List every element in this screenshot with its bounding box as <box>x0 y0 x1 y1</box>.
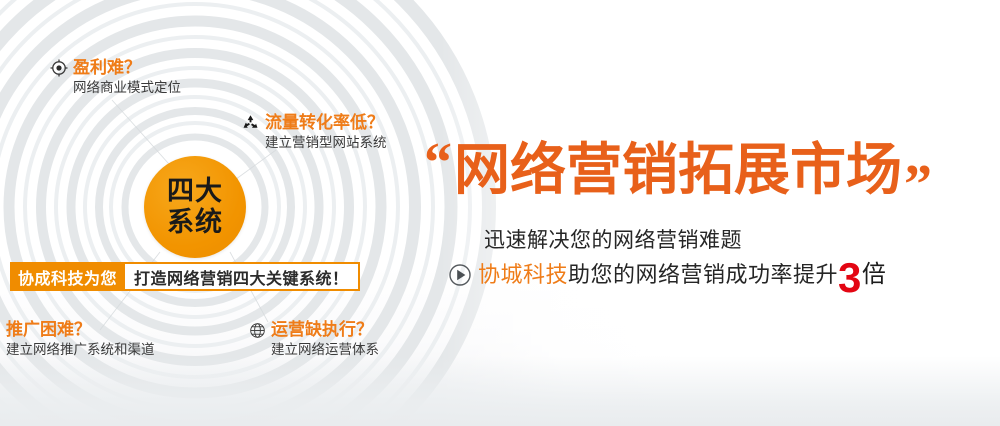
quote-close-mark: ” <box>904 170 932 200</box>
tagline-strip: 协成科技为您 打造网络营销四大关键系统！ <box>10 262 360 291</box>
feature-node-promotion: 推广困难？ 建立网络推广系统和渠道 <box>6 320 155 359</box>
feature-subtitle: 网络商业模式定位 <box>73 79 181 97</box>
feature-node-conversion: 流量转化率低？ 建立营销型网站系统 <box>241 113 387 152</box>
headline-subline-1: 迅速解决您的网络营销难题 <box>484 228 742 254</box>
feature-subtitle: 建立网络运营体系 <box>271 341 379 359</box>
target-icon <box>50 59 68 77</box>
feature-node-operation: 运营缺执行？ 建立网络运营体系 <box>249 320 379 359</box>
marketing-banner: 盈利难？ 网络商业模式定位 流量转化率低？ 建立营销型网站系统 推广困难？ <box>0 0 1000 426</box>
multiplier-unit: 倍 <box>862 260 887 290</box>
page-title: 网络营销拓展市场 <box>454 140 902 200</box>
headline-subline-2: 协城科技 助您的网络营销成功率提升 3 倍 <box>448 258 886 292</box>
feature-title: 运营缺执行？ <box>271 320 373 340</box>
globe-icon <box>249 322 266 339</box>
multiplier-number: 3 <box>838 261 862 295</box>
bottom-gradient-haze <box>0 356 1000 426</box>
feature-subtitle: 建立营销型网站系统 <box>265 134 387 152</box>
tagline-message-label: 打造网络营销四大关键系统！ <box>125 262 360 291</box>
center-circle-text: 四大 系统 <box>144 156 246 258</box>
feature-subtitle: 建立网络推广系统和渠道 <box>6 341 155 359</box>
feature-title: 盈利难？ <box>73 58 141 78</box>
recycle-icon <box>241 114 260 133</box>
center-circle-line2: 系统 <box>167 207 223 238</box>
quote-open-mark: “ <box>424 140 452 186</box>
subline-2-middle: 助您的网络营销成功率提升 <box>568 260 838 290</box>
feature-title: 推广困难？ <box>6 320 91 340</box>
play-circle-icon <box>448 263 472 287</box>
center-circle: 四大 系统 <box>144 156 246 258</box>
feature-node-profit: 盈利难？ 网络商业模式定位 <box>50 58 181 97</box>
brand-name: 协城科技 <box>478 260 568 290</box>
feature-title: 流量转化率低？ <box>265 113 384 133</box>
headline-block: “ 网络营销拓展市场 ” <box>424 140 932 200</box>
center-circle-line1: 四大 <box>167 176 223 207</box>
tagline-brand-label: 协成科技为您 <box>10 262 125 291</box>
